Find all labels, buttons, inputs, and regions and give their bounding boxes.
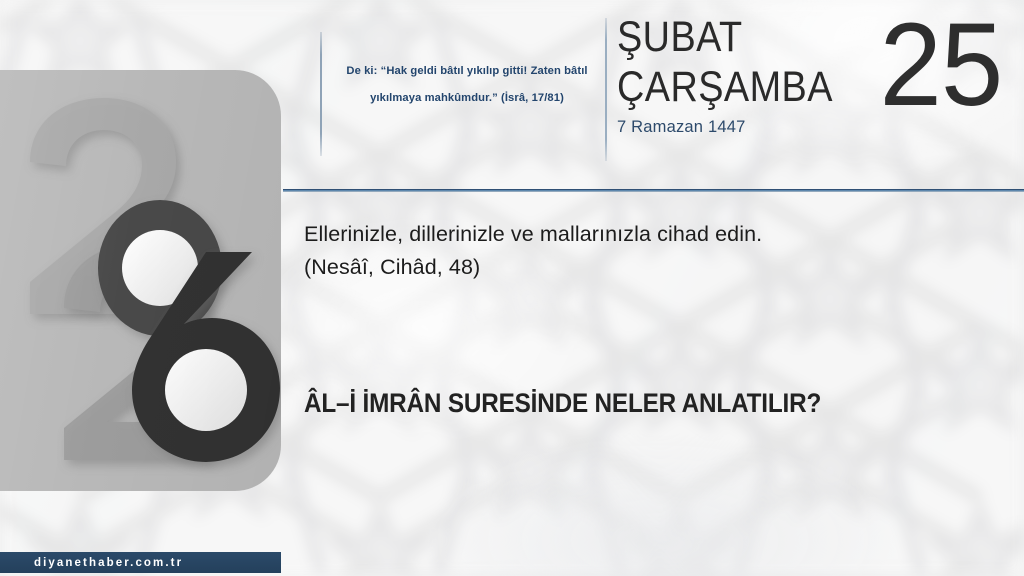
hadith-text: Ellerinizle, dillerinizle ve mallarınızl… [304, 218, 964, 284]
day-number: 25 [879, 6, 1002, 124]
date-block: ŞUBAT ÇARŞAMBA 7 Ramazan 1447 [617, 14, 857, 137]
website-url[interactable]: diyanethaber.com.tr [34, 557, 183, 569]
hadith-source: (Nesâî, Cihâd, 48) [304, 251, 964, 284]
panel-sheen [0, 70, 281, 491]
calendar-page: 2026 De ki: “Hak geldi bâtıl yıkılıp git… [0, 0, 1024, 576]
hadith-line-1: Ellerinizle, dillerinizle ve mallarınızl… [304, 218, 964, 251]
date-left-divider [605, 18, 607, 161]
month-label: ŞUBAT [617, 14, 828, 60]
quote-left-divider [320, 32, 322, 156]
year-logo-panel: 2026 [0, 70, 281, 491]
footer-bar: diyanethaber.com.tr [0, 552, 281, 573]
weekday-label: ÇARŞAMBA [617, 62, 828, 112]
ayah-quote: De ki: “Hak geldi bâtıl yıkılıp gitti! Z… [338, 58, 596, 113]
page-title: ÂL–İ İMRÂN SURESİNDE NELER ANLATILIR? [304, 388, 916, 418]
hijri-date-label: 7 Ramazan 1447 [617, 118, 857, 137]
horizontal-divider [283, 189, 1024, 192]
